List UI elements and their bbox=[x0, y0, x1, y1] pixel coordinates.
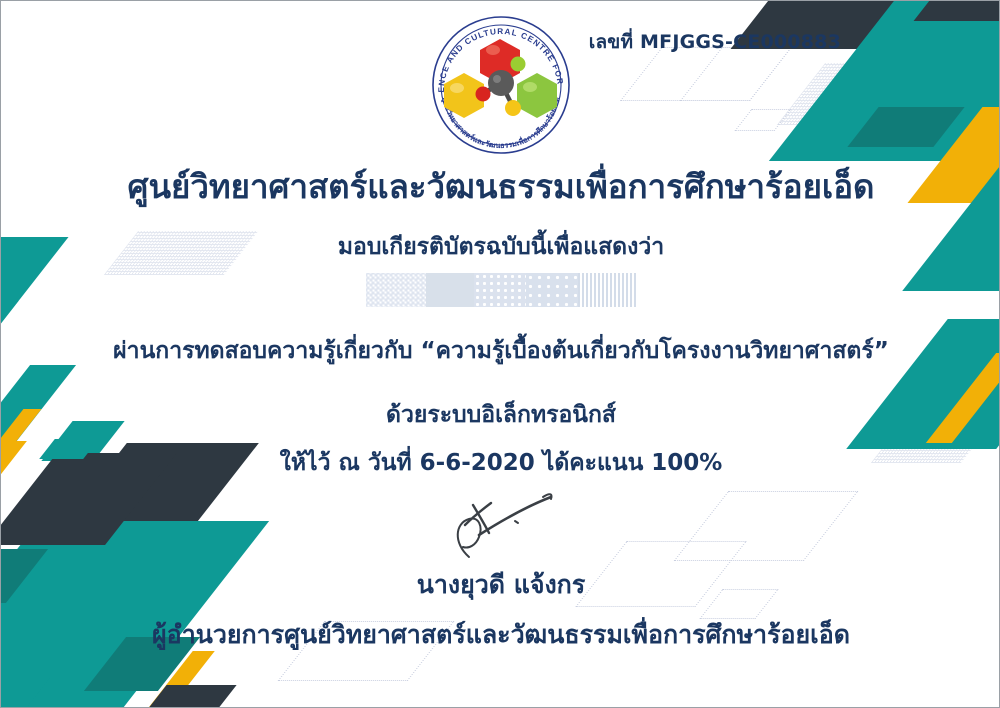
redaction-block bbox=[578, 273, 636, 307]
recipient-name-field bbox=[366, 273, 636, 307]
handwritten-signature bbox=[429, 487, 573, 563]
issue-date-and-score: ให้ไว้ ณ วันที่ 6-6-2020 ได้คะแนน 100% bbox=[1, 445, 1000, 481]
redaction-block bbox=[526, 273, 578, 307]
redaction-block bbox=[366, 273, 426, 307]
method-statement: ด้วยระบบอิเล็กทรอนิกส์ bbox=[1, 397, 1000, 433]
page-title: ศูนย์วิทยาศาสตร์และวัฒนธรรมเพื่อการศึกษา… bbox=[1, 166, 1000, 207]
certificate-content: เลขที่ MFJGGS-CE000883 ROI ET SCIENCE AN… bbox=[1, 1, 1000, 708]
award-statement: มอบเกียรติบัตรฉบับนี้เพื่อแสดงว่า bbox=[1, 229, 1000, 265]
certificate-number: เลขที่ MFJGGS-CE000883 bbox=[589, 27, 841, 57]
organization-seal-icon: ROI ET SCIENCE AND CULTURAL CENTRE FOR E… bbox=[424, 9, 578, 155]
redaction-block bbox=[474, 273, 526, 307]
exam-statement: ผ่านการทดสอบความรู้เกี่ยวกับ “ความรู้เบื… bbox=[1, 333, 1000, 369]
signer-title: ผู้อำนวยการศูนย์วิทยาศาสตร์และวัฒนธรรมเพ… bbox=[1, 615, 1000, 655]
certificate-page: เลขที่ MFJGGS-CE000883 ROI ET SCIENCE AN… bbox=[0, 0, 1000, 708]
signer-name: นางยุวดี แจ้งกร bbox=[1, 565, 1000, 605]
redaction-block bbox=[426, 273, 474, 307]
